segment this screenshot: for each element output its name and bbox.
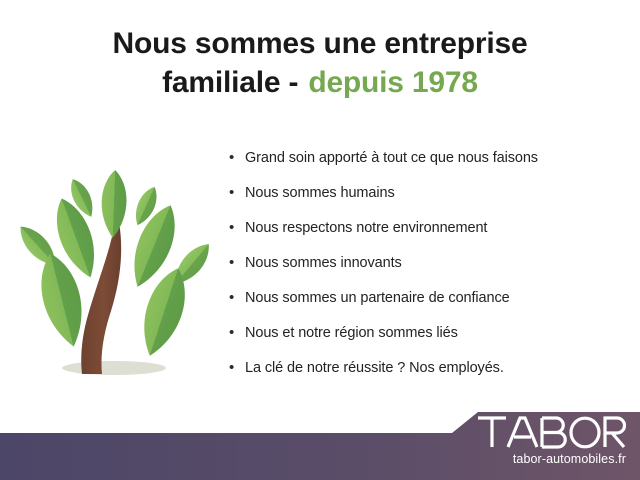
list-item-label: Nous sommes humains	[245, 185, 395, 201]
title-line-2: familiale -depuis 1978	[0, 65, 640, 102]
list-item-label: Nous sommes innovants	[245, 255, 402, 271]
brand-logo[interactable]: tabor-automobiles.fr	[476, 414, 626, 466]
title-line-2-main: familiale -	[162, 66, 298, 99]
brand-tagline: tabor-automobiles.fr	[476, 453, 626, 466]
list-item-label: La clé de notre réussite ? Nos employés.	[245, 360, 504, 376]
title-accent-year: depuis 1978	[308, 66, 478, 99]
bullet-marker-icon: •	[229, 325, 245, 340]
bullet-marker-icon: •	[229, 150, 245, 165]
list-item: • Nous sommes un partenaire de confiance	[229, 290, 629, 325]
bullet-marker-icon: •	[229, 290, 245, 305]
bullet-marker-icon: •	[229, 255, 245, 270]
tree-illustration	[14, 160, 214, 385]
list-item: • La clé de notre réussite ? Nos employé…	[229, 360, 629, 395]
slide-canvas: Nous sommes une entreprise familiale -de…	[0, 0, 640, 480]
bullet-marker-icon: •	[229, 220, 245, 235]
list-item: • Nous sommes innovants	[229, 255, 629, 290]
list-item-label: Grand soin apporté à tout ce que nous fa…	[245, 150, 538, 166]
list-item: • Nous respectons notre environnement	[229, 220, 629, 255]
bullet-marker-icon: •	[229, 185, 245, 200]
list-item-label: Nous et notre région sommes liés	[245, 325, 458, 341]
list-item-label: Nous sommes un partenaire de confiance	[245, 290, 510, 306]
values-list: • Grand soin apporté à tout ce que nous …	[229, 150, 629, 395]
tree-shadow	[62, 361, 166, 375]
leaf-top-center	[100, 170, 127, 239]
page-title: Nous sommes une entreprise familiale -de…	[0, 26, 640, 101]
brand-wordmark	[476, 414, 626, 450]
list-item-label: Nous respectons notre environnement	[245, 220, 487, 236]
list-item: • Nous sommes humains	[229, 185, 629, 220]
bullet-marker-icon: •	[229, 360, 245, 375]
title-line-1: Nous sommes une entreprise	[0, 26, 640, 63]
list-item: • Nous et notre région sommes liés	[229, 325, 629, 360]
list-item: • Grand soin apporté à tout ce que nous …	[229, 150, 629, 185]
